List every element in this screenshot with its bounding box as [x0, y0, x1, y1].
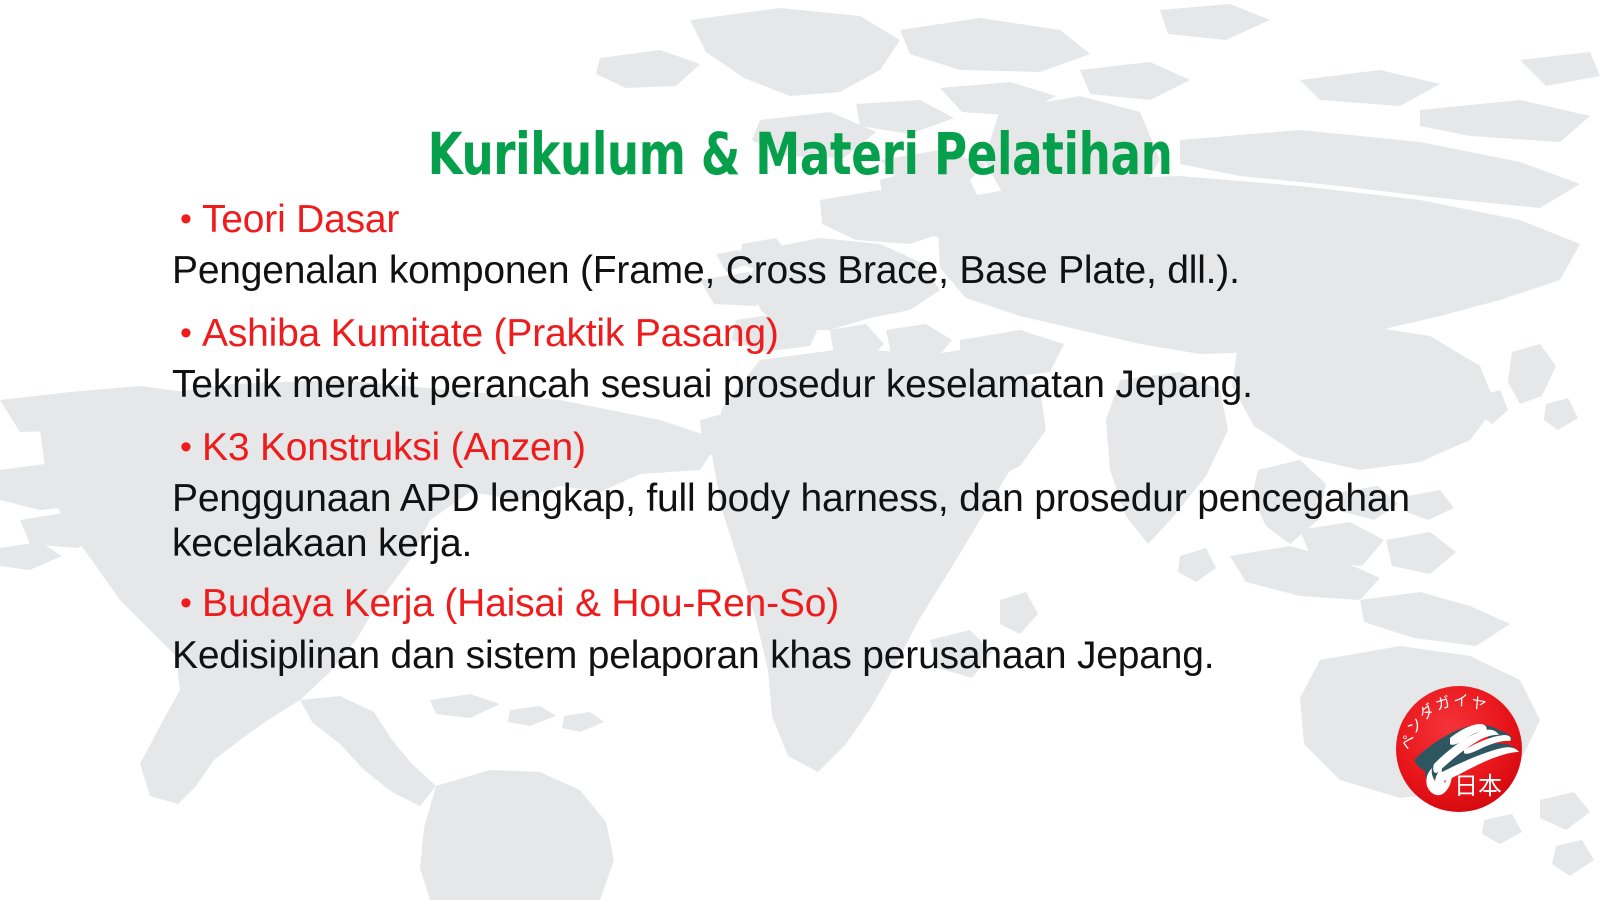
list-item-heading-3: •K3 Konstruksi (Anzen)	[172, 426, 1412, 470]
slide-content: Kurikulum & Materi Pelatihan •Teori Dasa…	[0, 0, 1600, 900]
heading-text-2: Ashiba Kumitate (Praktik Pasang)	[202, 312, 779, 355]
list-item-heading-2: •Ashiba Kumitate (Praktik Pasang)	[172, 312, 1412, 356]
curriculum-list: •Teori Dasar Pengenalan komponen (Frame,…	[172, 198, 1412, 696]
heading-text-1: Teori Dasar	[202, 198, 399, 241]
heading-text-3: K3 Konstruksi (Anzen)	[202, 426, 586, 469]
list-item-heading-4: •Budaya Kerja (Haisai & Hou-Ren-So)	[172, 582, 1412, 626]
bullet-icon: •	[180, 316, 202, 350]
page-title: Kurikulum & Materi Pelatihan	[176, 124, 1424, 185]
list-item-body-2: Teknik merakit perancah sesuai prosedur …	[172, 363, 1412, 407]
list-item-body-1: Pengenalan komponen (Frame, Cross Brace,…	[172, 249, 1412, 293]
bullet-icon: •	[180, 430, 202, 464]
list-item-body-4: Kedisiplinan dan sistem pelaporan khas p…	[172, 634, 1412, 678]
company-logo: ペンダガイヤ 日本	[1392, 682, 1526, 816]
list-item-body-3: Penggunaan APD lengkap, full body harnes…	[172, 477, 1412, 566]
bullet-icon: •	[180, 202, 202, 236]
slide-canvas: Kurikulum & Materi Pelatihan •Teori Dasa…	[0, 0, 1600, 900]
bullet-icon: •	[180, 586, 202, 620]
logo-bottom-text: 日本	[1454, 772, 1502, 800]
list-item-heading-1: •Teori Dasar	[172, 198, 1412, 242]
heading-text-4: Budaya Kerja (Haisai & Hou-Ren-So)	[202, 582, 839, 625]
